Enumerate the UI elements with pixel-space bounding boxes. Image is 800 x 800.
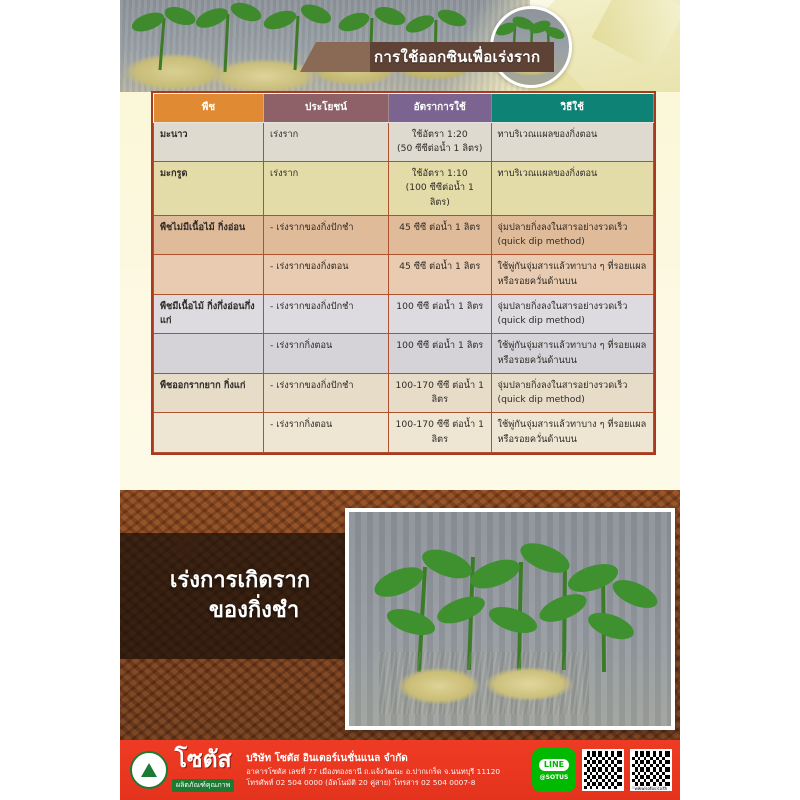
- table-header-row: พืช ประโยชน์ อัตราการใช้ วิธีใช้: [154, 94, 654, 123]
- hero-photo: การใช้ออกซินเพื่อเร่งราก: [120, 0, 680, 92]
- cell-rate: 100-170 ซีซี ต่อน้ำ 1 ลิตร: [389, 413, 492, 453]
- method-line-1: ใช้พู่กันจุ่มสารแล้วทาบาง ๆ ที่รอยแผล: [498, 260, 648, 274]
- col-header-benefit: ประโยชน์: [264, 94, 389, 123]
- company-address: อาคารโซตัส เลขที่ 77 เมืองทองธานี ถ.แจ้ง…: [246, 766, 532, 777]
- headline-line-1: เร่งการเกิดราก: [170, 566, 310, 596]
- method-line-2: (quick dip method): [498, 235, 648, 249]
- cell-benefit: - เร่งรากของกิ่งปักชำ: [264, 294, 389, 334]
- headline-panel: เร่งการเกิดราก ของกิ่งชำ: [120, 533, 360, 659]
- line-icon: LINE: [539, 759, 569, 771]
- rate-line-2: (50 ซีซีต่อน้ำ 1 ลิตร): [395, 142, 485, 156]
- table-row: พืชออกรากยาก กิ่งแก่ - เร่งรากของกิ่งปัก…: [154, 373, 654, 413]
- cell-plant: พืชมีเนื้อไม้ กิ่งกึ่งอ่อนกึ่งแก่: [154, 294, 264, 334]
- method-line-2: (quick dip method): [498, 393, 648, 407]
- headline-line-2: ของกิ่งชำ: [209, 596, 299, 626]
- cell-benefit: - เร่งรากกิ่งตอน: [264, 334, 389, 374]
- cell-plant: มะกรูด: [154, 162, 264, 216]
- method-line-2: (quick dip method): [498, 314, 648, 328]
- title-ribbon: การใช้ออกซินเพื่อเร่งราก: [300, 42, 554, 72]
- cell-method: ใช้พู่กันจุ่มสารแล้วทาบาง ๆ ที่รอยแผล หร…: [491, 413, 654, 453]
- rate-line-1: 45 ซีซี ต่อน้ำ 1 ลิตร: [395, 221, 485, 235]
- cell-rate: ใช้อัตรา 1:20 (50 ซีซีต่อน้ำ 1 ลิตร): [389, 122, 492, 162]
- cell-plant: [154, 413, 264, 453]
- poster: SOTUS: [120, 0, 680, 800]
- col-header-plant: พืช: [154, 94, 264, 123]
- root-mass: [379, 652, 589, 714]
- cell-plant: [154, 334, 264, 374]
- poster-title: การใช้ออกซินเพื่อเร่งราก: [374, 45, 540, 69]
- rate-line-1: 100-170 ซีซี ต่อน้ำ 1 ลิตร: [395, 418, 485, 447]
- cell-plant: [154, 255, 264, 295]
- brand-block: โซตัส ผลิตภัณฑ์คุณภาพ: [172, 749, 234, 792]
- cell-plant: พืชออกรากยาก กิ่งแก่: [154, 373, 264, 413]
- table-row: พืชมีเนื้อไม้ กิ่งกึ่งอ่อนกึ่งแก่ - เร่ง…: [154, 294, 654, 334]
- qr-code-website[interactable]: www.sotus.co.th: [630, 749, 672, 791]
- cell-rate: 100-170 ซีซี ต่อน้ำ 1 ลิตร: [389, 373, 492, 413]
- qr-code-line[interactable]: [582, 749, 624, 791]
- method-line-1: ใช้พู่กันจุ่มสารแล้วทาบาง ๆ ที่รอยแผล: [498, 339, 648, 353]
- method-line-1: จุ่มปลายกิ่งลงในสารอย่างรวดเร็ว: [498, 300, 648, 314]
- rate-line-1: ใช้อัตรา 1:10: [395, 167, 485, 181]
- method-line-1: จุ่มปลายกิ่งลงในสารอย่างรวดเร็ว: [498, 379, 648, 393]
- tree-icon: [141, 763, 157, 777]
- cell-method: ทาบริเวณแผลของกิ่งตอน: [491, 122, 654, 162]
- cell-benefit: - เร่งรากของกิ่งปักชำ: [264, 215, 389, 255]
- ribbon-tail: [300, 42, 370, 72]
- rate-line-1: 45 ซีซี ต่อน้ำ 1 ลิตร: [395, 260, 485, 274]
- brand-name: โซตัส: [172, 749, 234, 772]
- contact-block: บริษัท โซตัส อินเตอร์เนชั่นแนล จำกัด อาค…: [246, 752, 532, 788]
- table-row: - เร่งรากกิ่งตอน 100-170 ซีซี ต่อน้ำ 1 ล…: [154, 413, 654, 453]
- footer-bar: โซตัส ผลิตภัณฑ์คุณภาพ บริษัท โซตัส อินเต…: [120, 740, 680, 800]
- rooted-cuttings-photo: [345, 508, 675, 730]
- cell-benefit: เร่งราก: [264, 122, 389, 162]
- table-row: - เร่งรากกิ่งตอน 100 ซีซี ต่อน้ำ 1 ลิตร …: [154, 334, 654, 374]
- table-row: - เร่งรากของกิ่งตอน 45 ซีซี ต่อน้ำ 1 ลิต…: [154, 255, 654, 295]
- cell-rate: 100 ซีซี ต่อน้ำ 1 ลิตร: [389, 294, 492, 334]
- method-line-2: หรือรอยควั่นด้านบน: [498, 433, 648, 447]
- col-header-rate: อัตราการใช้: [389, 94, 492, 123]
- method-line-2: หรือรอยควั่นด้านบน: [498, 275, 648, 289]
- cell-benefit: เร่งราก: [264, 162, 389, 216]
- qr-pattern: [584, 751, 622, 789]
- method-line-2: หรือรอยควั่นด้านบน: [498, 354, 648, 368]
- usage-table-container: พืช ประโยชน์ อัตราการใช้ วิธีใช้ มะนาว เ…: [151, 91, 656, 455]
- qr-pattern: [632, 751, 670, 789]
- brand-tagline: ผลิตภัณฑ์คุณภาพ: [172, 779, 234, 792]
- col-header-method: วิธีใช้: [491, 94, 654, 123]
- sotus-logo-icon: [130, 751, 168, 789]
- cell-rate: 45 ซีซี ต่อน้ำ 1 ลิตร: [389, 255, 492, 295]
- cell-benefit: - เร่งรากของกิ่งตอน: [264, 255, 389, 295]
- cell-plant: พืชไม่มีเนื้อไม้ กิ่งอ่อน: [154, 215, 264, 255]
- line-badge[interactable]: LINE @SOTUS: [532, 748, 576, 792]
- qr-caption: www.sotus.co.th: [630, 786, 672, 791]
- rate-line-2: (100 ซีซีต่อน้ำ 1 ลิตร): [395, 181, 485, 210]
- cell-method: จุ่มปลายกิ่งลงในสารอย่างรวดเร็ว (quick d…: [491, 215, 654, 255]
- footer-social-block: LINE @SOTUS www.sotus.co.th: [532, 748, 672, 792]
- rate-line-1: 100-170 ซีซี ต่อน้ำ 1 ลิตร: [395, 379, 485, 408]
- cell-method: ทาบริเวณแผลของกิ่งตอน: [491, 162, 654, 216]
- table-row: พืชไม่มีเนื้อไม้ กิ่งอ่อน - เร่งรากของกิ…: [154, 215, 654, 255]
- rate-line-1: 100 ซีซี ต่อน้ำ 1 ลิตร: [395, 300, 485, 314]
- table-row: มะกรูด เร่งราก ใช้อัตรา 1:10 (100 ซีซีต่…: [154, 162, 654, 216]
- method-line-1: จุ่มปลายกิ่งลงในสารอย่างรวดเร็ว: [498, 221, 648, 235]
- cell-method: จุ่มปลายกิ่งลงในสารอย่างรวดเร็ว (quick d…: [491, 294, 654, 334]
- method-line-1: ใช้พู่กันจุ่มสารแล้วทาบาง ๆ ที่รอยแผล: [498, 418, 648, 432]
- rate-line-1: 100 ซีซี ต่อน้ำ 1 ลิตร: [395, 339, 485, 353]
- company-name: บริษัท โซตัส อินเตอร์เนชั่นแนล จำกัด: [246, 752, 532, 766]
- method-line-1: ทาบริเวณแผลของกิ่งตอน: [498, 167, 648, 181]
- rate-line-1: ใช้อัตรา 1:20: [395, 128, 485, 142]
- poster-canvas: SOTUS: [0, 0, 800, 800]
- cell-method: จุ่มปลายกิ่งลงในสารอย่างรวดเร็ว (quick d…: [491, 373, 654, 413]
- ribbon-main: การใช้ออกซินเพื่อเร่งราก: [370, 42, 554, 72]
- cell-method: ใช้พู่กันจุ่มสารแล้วทาบาง ๆ ที่รอยแผล หร…: [491, 334, 654, 374]
- company-phone: โทรศัพท์ 02 504 0000 (อัตโนมัติ 20 คู่สา…: [246, 777, 532, 788]
- cell-method: ใช้พู่กันจุ่มสารแล้วทาบาง ๆ ที่รอยแผล หร…: [491, 255, 654, 295]
- cell-plant: มะนาว: [154, 122, 264, 162]
- cell-benefit: - เร่งรากกิ่งตอน: [264, 413, 389, 453]
- table-row: มะนาว เร่งราก ใช้อัตรา 1:20 (50 ซีซีต่อน…: [154, 122, 654, 162]
- cell-rate: 45 ซีซี ต่อน้ำ 1 ลิตร: [389, 215, 492, 255]
- usage-table: พืช ประโยชน์ อัตราการใช้ วิธีใช้ มะนาว เ…: [153, 93, 654, 453]
- cell-benefit: - เร่งรากของกิ่งปักชำ: [264, 373, 389, 413]
- line-id: @SOTUS: [540, 774, 569, 781]
- cell-rate: 100 ซีซี ต่อน้ำ 1 ลิตร: [389, 334, 492, 374]
- cell-rate: ใช้อัตรา 1:10 (100 ซีซีต่อน้ำ 1 ลิตร): [389, 162, 492, 216]
- method-line-1: ทาบริเวณแผลของกิ่งตอน: [498, 128, 648, 142]
